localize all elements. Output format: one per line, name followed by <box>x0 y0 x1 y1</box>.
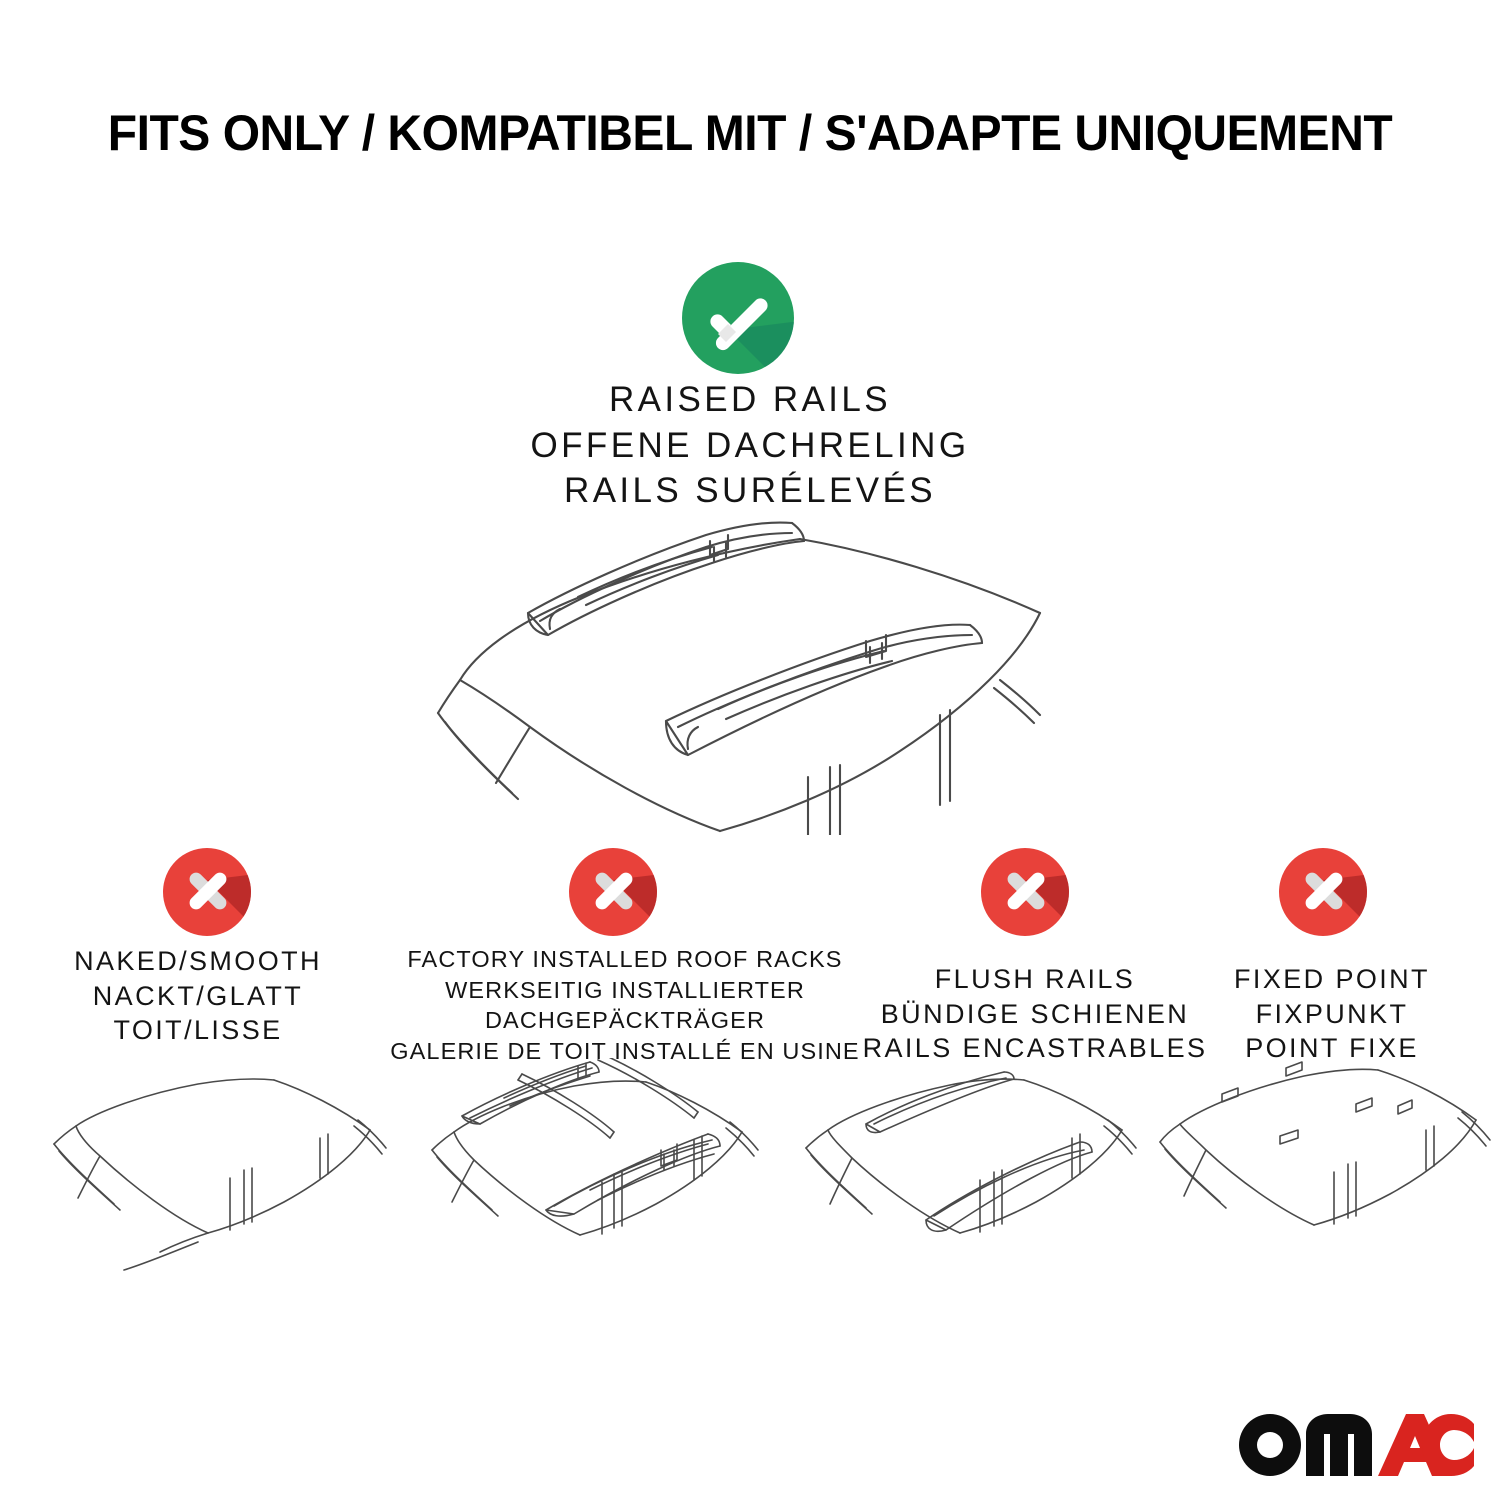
label-line-fr: TOIT/LISSE <box>28 1013 368 1048</box>
label-line-de: BÜNDIGE SCHIENEN <box>850 997 1220 1032</box>
compatible-label: RAISED RAILS OFFENE DACHRELING RAILS SUR… <box>0 377 1500 514</box>
car-roof-factory-racks-illustration <box>418 1058 778 1288</box>
compatible-label-line-en: RAISED RAILS <box>0 377 1500 423</box>
check-circle-icon <box>676 262 824 380</box>
incompatible-label-factory: FACTORY INSTALLED ROOF RACKS WERKSEITIG … <box>390 944 860 1066</box>
label-line-en: NAKED/SMOOTH <box>28 944 368 979</box>
label-line-en: FACTORY INSTALLED ROOF RACKS <box>390 944 860 975</box>
car-roof-raised-rails-illustration <box>400 505 1100 835</box>
car-roof-flush-rails-illustration <box>798 1058 1158 1288</box>
cross-circle-icon-factory <box>566 848 678 940</box>
incompatible-label-fixed-point: FIXED POINT FIXPUNKT POINT FIXE <box>1172 962 1492 1066</box>
label-line-en: FIXED POINT <box>1172 962 1492 997</box>
incompatible-label-naked: NAKED/SMOOTH NACKT/GLATT TOIT/LISSE <box>28 944 368 1048</box>
omac-logo <box>1238 1412 1474 1478</box>
cross-circle-icon-flush <box>978 848 1090 940</box>
incompatible-label-flush: FLUSH RAILS BÜNDIGE SCHIENEN RAILS ENCAS… <box>850 962 1220 1066</box>
page-title: FITS ONLY / KOMPATIBEL MIT / S'ADAPTE UN… <box>30 104 1470 162</box>
compatible-label-line-de: OFFENE DACHRELING <box>0 423 1500 469</box>
car-roof-naked-smooth-illustration <box>48 1058 408 1288</box>
label-line-de-2: DACHGEPÄCKTRÄGER <box>390 1005 860 1036</box>
car-roof-fixed-point-illustration <box>1158 1058 1500 1288</box>
label-line-de: FIXPUNKT <box>1172 997 1492 1032</box>
label-line-de: NACKT/GLATT <box>28 979 368 1014</box>
fitment-infographic: FITS ONLY / KOMPATIBEL MIT / S'ADAPTE UN… <box>0 0 1500 1500</box>
cross-circle-icon-fixed-point <box>1276 848 1388 940</box>
cross-circle-icon-naked <box>160 848 272 940</box>
label-line-de-1: WERKSEITIG INSTALLIERTER <box>390 975 860 1006</box>
label-line-en: FLUSH RAILS <box>850 962 1220 997</box>
